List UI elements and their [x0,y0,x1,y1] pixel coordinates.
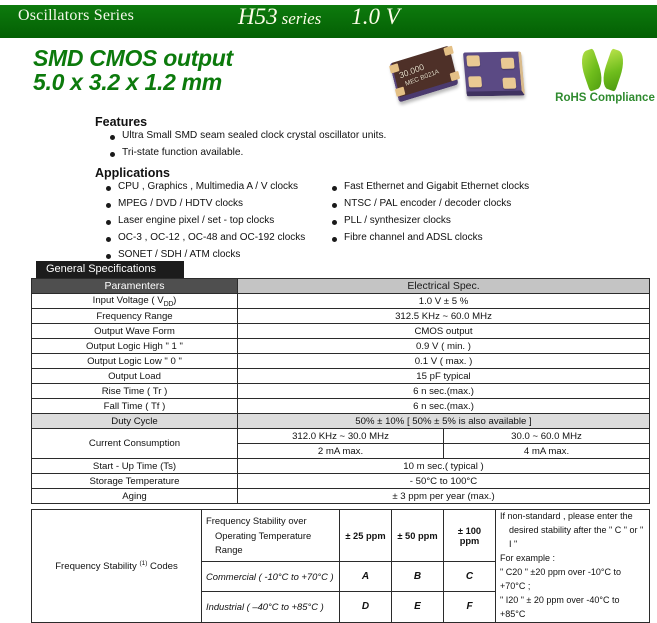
stability-code-industrial-25: D [340,592,392,622]
leaf-icon [577,48,606,91]
applications-heading: Applications [95,166,170,180]
stability-label-tail: Codes [147,561,177,572]
note-line: " I20 " ± 20 ppm over -40°C to +85°C [500,594,645,622]
param-output-load: Output Load [32,369,238,384]
param-storage-temperature: Storage Temperature [32,474,238,489]
solder-pad [450,71,461,81]
value-input-voltage: 1.0 V ± 5 % [238,294,650,309]
table-row: Aging ± 3 ppm per year (max.) [32,489,650,504]
features-heading: Features [95,115,147,129]
frequency-stability-codes-label: Frequency Stability (1) Codes [32,510,202,623]
list-item: Fibre channel and ADSL clocks [330,233,529,243]
value-output-load: 15 pF typical [238,369,650,384]
param-label: Input Voltage ( V [93,295,164,306]
chip-marking: 30.000 MEC B021A [398,56,441,91]
solder-pad [443,46,454,56]
list-item: Tri-state function available. [108,148,386,158]
applications-list-column-1: CPU , Graphics , Multimedia A / V clocks… [104,182,305,267]
header-series-label: Oscillators Series [18,7,134,25]
value-fall-time: 6 n sec.(max.) [238,399,650,414]
table-row: Frequency Stability (1) Codes Frequency … [32,510,650,562]
grade-name-industrial: Industrial ( –40°C to +85°C ) [202,592,340,622]
param-frequency-range: Frequency Range [32,309,238,324]
ppm-column-header-25: ± 25 ppm [340,510,392,562]
model-name: H53 [238,4,278,29]
param-fall-time: Fall Time ( Tf ) [32,399,238,414]
note-line: desired stability after the " C " or " I… [500,524,645,552]
stability-range-header-line2: Operating Temperature Range [206,529,335,557]
applications-list-column-2: Fast Ethernet and Gigabit Ethernet clock… [330,182,529,250]
table-row-current-consumption-ranges: Current Consumption 312.0 KHz ~ 30.0 MHz… [32,429,650,444]
solder-pad [501,58,515,69]
column-header-parameters: Paramenters [32,279,238,294]
frequency-stability-table: Frequency Stability (1) Codes Frequency … [31,509,650,623]
param-aging: Aging [32,489,238,504]
ppm-column-header-50: ± 50 ppm [392,510,444,562]
table-row: Storage Temperature - 50°C to 100°C [32,474,650,489]
param-output-wave-form: Output Wave Form [32,324,238,339]
header-model-title: H53 series 1.0 V [238,4,400,30]
solder-pad [502,78,516,89]
product-photo: 30.000 MEC B021A RoHS Compliance [385,46,655,118]
table-row: Start - Up Time (Ts) 10 m sec.( typical … [32,459,650,474]
value-aging: ± 3 ppm per year (max.) [238,489,650,504]
non-standard-note: If non-standard , please enter the desir… [496,510,650,623]
param-start-up-time: Start - Up Time (Ts) [32,459,238,474]
general-specifications-table: Paramenters Electrical Spec. Input Volta… [31,278,650,504]
list-item: PLL / synthesizer clocks [330,216,529,226]
param-rise-time: Rise Time ( Tr ) [32,384,238,399]
value-current-low: 2 mA max. [238,444,444,459]
value-rise-time: 6 n sec.(max.) [238,384,650,399]
note-line: If non-standard , please enter the [500,510,645,524]
table-row: Frequency Range 312.5 KHz ~ 60.0 MHz [32,309,650,324]
note-line: " C20 " ±20 ppm over -10°C to +70°C ; [500,566,645,594]
list-item: CPU , Graphics , Multimedia A / V clocks [104,182,305,192]
ppm-column-header-100: ± 100 ppm [444,510,496,562]
solder-pad [468,76,482,87]
solder-pad [466,55,480,66]
param-label-tail: ) [173,295,176,306]
param-duty-cycle: Duty Cycle [32,414,238,429]
table-row: Output Logic High " 1 " 0.9 V ( min. ) [32,339,650,354]
table-row: Output Wave Form CMOS output [32,324,650,339]
param-output-logic-low: Output Logic Low " 0 " [32,354,238,369]
list-item: MPEG / DVD / HDTV clocks [104,199,305,209]
column-header-electrical-spec: Electrical Spec. [238,279,650,294]
param-output-logic-high: Output Logic High " 1 " [32,339,238,354]
value-frequency-range: 312.5 KHz ~ 60.0 MHz [238,309,650,324]
param-input-voltage: Input Voltage ( VDD) [32,294,238,309]
general-specifications-tab: General Specifications [36,261,184,278]
table-row: Input Voltage ( VDD) 1.0 V ± 5 % [32,294,650,309]
stability-code-commercial-50: B [392,562,444,592]
value-start-up-time: 10 m sec.( typical ) [238,459,650,474]
list-item: NTSC / PAL encoder / decoder clocks [330,199,529,209]
value-duty-cycle: 50% ± 10% [ 50% ± 5% is also available ] [238,414,650,429]
list-item: Ultra Small SMD seam sealed clock crysta… [108,131,386,141]
title-line-2: 5.0 x 3.2 x 1.2 mm [33,70,233,94]
rohs-logo: RoHS Compliance [555,46,655,118]
stability-range-header: Frequency Stability over Operating Tempe… [202,510,340,562]
stability-code-industrial-50: E [392,592,444,622]
list-item: SONET / SDH / ATM clocks [104,250,305,260]
param-subscript: DD [164,300,174,307]
value-output-logic-high: 0.9 V ( min. ) [238,339,650,354]
value-output-logic-low: 0.1 V ( max. ) [238,354,650,369]
table-row: Output Load 15 pF typical [32,369,650,384]
value-current-high: 4 mA max. [444,444,650,459]
stability-code-commercial-25: A [340,562,392,592]
table-row: Fall Time ( Tf ) 6 n sec.(max.) [32,399,650,414]
stability-range-header-line1: Frequency Stability over [206,515,307,526]
grade-name-commercial: Commercial ( -10°C to +70°C ) [202,562,340,592]
oscillator-package-top-view: 30.000 MEC B021A [390,46,459,103]
stability-code-industrial-100: F [444,592,496,622]
oscillator-package-bottom-view [463,52,525,97]
list-item: OC-3 , OC-12 , OC-48 and OC-192 clocks [104,233,305,243]
model-voltage: 1.0 V [351,4,400,29]
features-list: Ultra Small SMD seam sealed clock crysta… [108,131,386,165]
table-row: Rise Time ( Tr ) 6 n sec.(max.) [32,384,650,399]
param-current-consumption: Current Consumption [32,429,238,459]
table-header-row: Paramenters Electrical Spec. [32,279,650,294]
table-row: Output Logic Low " 0 " 0.1 V ( max. ) [32,354,650,369]
stability-code-commercial-100: C [444,562,496,592]
value-output-wave-form: CMOS output [238,324,650,339]
leaf-icon [599,48,628,91]
stability-label-main: Frequency Stability [55,561,139,572]
value-storage-temperature: - 50°C to 100°C [238,474,650,489]
title-line-1: SMD CMOS output [33,46,233,70]
page-title: SMD CMOS output 5.0 x 3.2 x 1.2 mm [33,46,233,95]
note-line: For example : [500,552,645,566]
value-current-range-high: 30.0 ~ 60.0 MHz [444,429,650,444]
value-current-range-low: 312.0 KHz ~ 30.0 MHz [238,429,444,444]
model-suffix: series [282,9,322,28]
list-item: Laser engine pixel / set - top clocks [104,216,305,226]
table-row: Duty Cycle 50% ± 10% [ 50% ± 5% is also … [32,414,650,429]
list-item: Fast Ethernet and Gigabit Ethernet clock… [330,182,529,192]
rohs-label: RoHS Compliance [555,92,655,104]
